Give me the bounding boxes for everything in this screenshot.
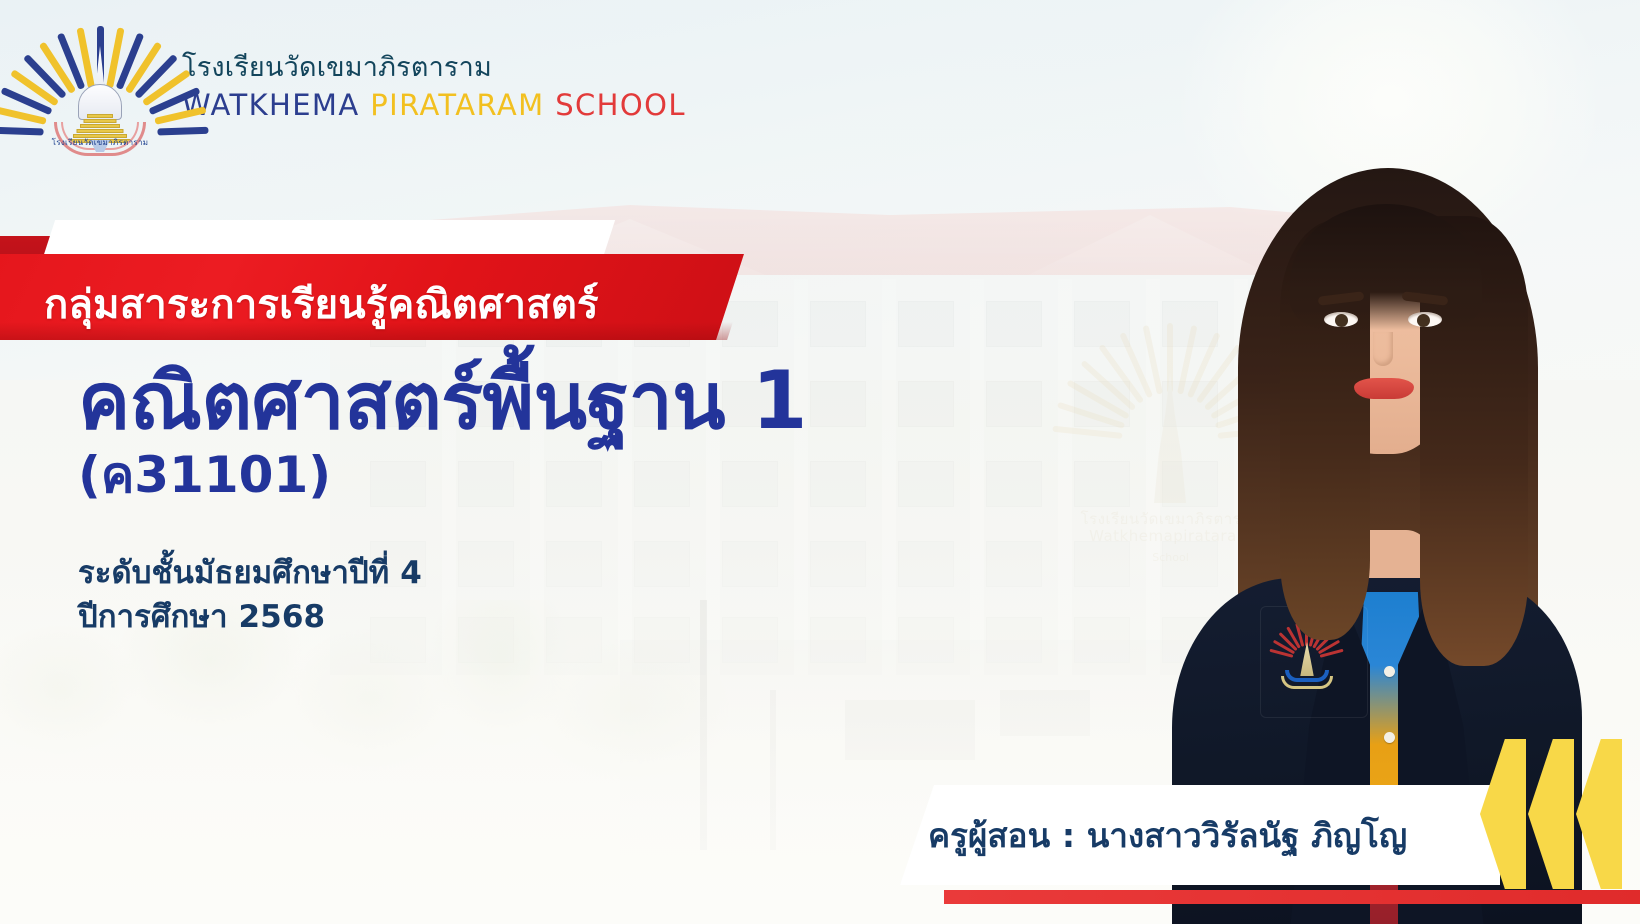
grade-level: ระดับชั้นมัธยมศึกษาปีที่ 4 [78,551,1068,595]
course-meta: ระดับชั้นมัธยมศึกษาปีที่ 4 ปีการศึกษา 25… [78,551,1068,639]
header: โรงเรียนวัดเขมาภิรตาราม โรงเรียนวัดเขมาภ… [40,22,686,152]
school-name-english: WATKHEMA PIRATARAM SCHOOL [182,88,686,123]
school-name-en-school: SCHOOL [555,88,686,122]
course-title-number: 1 [752,354,807,447]
slide-canvas: โรงเรียนวัดเขมาภิรตาราม Watkhemapiratara… [0,0,1640,924]
school-name-group: โรงเรียนวัดเขมาภิรตาราม WATKHEMA PIRATAR… [182,51,686,124]
portrait-shirt-button-1 [1384,666,1395,677]
crest-ray [0,127,43,136]
portrait-nose [1373,332,1393,366]
crest-arc-text: โรงเรียนวัดเขมาภิรตาราม [46,126,154,160]
teacher-name-banner: ครูผู้สอน : นางสาววิรัลนัฐ ภิญโญ [900,785,1640,885]
academic-year: ปีการศึกษา 2568 [78,595,1068,639]
course-title-block: คณิตศาสตร์พื้นฐาน 1 (ค31101) ระดับชั้นมั… [78,360,1068,639]
portrait-shirt-button-2 [1384,732,1395,743]
school-name-en-pirataram: PIRATARAM [370,88,544,122]
school-name-en-watkhema: WATKHEMA [182,88,360,122]
crest-tier [87,114,113,118]
badge-gold-wreath [1281,676,1333,689]
portrait-lips [1354,378,1414,399]
portrait-iris-right [1417,314,1430,327]
course-code: (ค31101) [78,449,1068,502]
teacher-name-label: ครูผู้สอน : นางสาววิรัลนัฐ ภิญโญ [928,809,1488,862]
subject-group-banner: กลุ่มสาระการเรียนรู้คณิตศาสตร์ [0,222,760,340]
course-title-text: คณิตศาสตร์พื้นฐาน [78,357,752,447]
portrait-iris-left [1335,314,1348,327]
bottom-red-bar [944,890,1640,904]
crest-ray [158,127,209,136]
course-title-line: คณิตศาสตร์พื้นฐาน 1 [78,360,1068,443]
school-crest-stupa-icon: โรงเรียนวัดเขมาภิรตาราม [40,22,160,152]
school-name-thai: โรงเรียนวัดเขมาภิรตาราม [182,51,686,85]
subject-group-label: กลุ่มสาระการเรียนรู้คณิตศาสตร์ [44,272,734,336]
